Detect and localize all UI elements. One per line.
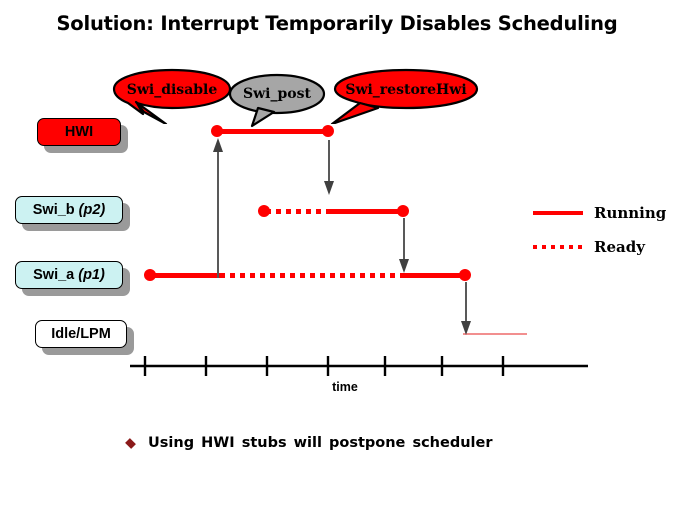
legend-item-running: Running: [533, 204, 666, 222]
track-hwi-segment-running: [217, 129, 328, 134]
row-label-idle: Idle/LPM: [35, 320, 127, 348]
legend-swatch-ready-icon: [533, 245, 583, 249]
slide-canvas: Solution: Interrupt Temporarily Disables…: [0, 0, 674, 506]
axis-label-time: time: [300, 380, 390, 394]
track-swi-a-marker-end: [459, 269, 471, 281]
row-label-swi-a-priority: (p1): [78, 267, 105, 283]
callout-swi-post[interactable]: Swi_post: [226, 72, 328, 128]
transition-arrow-swi-a-to-hwi: [207, 136, 229, 278]
track-swi-a-segment-ready: [220, 273, 403, 278]
bullet-point-text: Using HWI stubs will postpone scheduler: [148, 435, 492, 451]
legend-label-ready: Ready: [594, 238, 645, 256]
transition-arrow-hwi-to-swi-b: [318, 140, 340, 196]
time-axis: [130, 352, 600, 380]
legend-item-ready: Ready: [533, 238, 645, 256]
row-label-swi-b-text: Swi_b: [33, 202, 75, 218]
row-label-idle-text: Idle/LPM: [51, 326, 111, 342]
row-label-swi-a: Swi_a (p1): [15, 261, 123, 289]
transition-arrow-swi-a-to-idle: [455, 282, 477, 336]
track-swi-a-marker-start: [144, 269, 156, 281]
row-label-swi-b: Swi_b (p2): [15, 196, 123, 224]
row-label-swi-a-text: Swi_a: [33, 267, 74, 283]
track-swi-b-marker-start: [258, 205, 270, 217]
row-label-hwi-text: HWI: [65, 124, 93, 140]
transition-arrow-swi-b-to-swi-a: [393, 218, 415, 274]
legend-label-running: Running: [594, 204, 666, 222]
track-swi-b-segment-running: [328, 209, 403, 214]
row-label-hwi: HWI: [37, 118, 121, 146]
page-title: Solution: Interrupt Temporarily Disables…: [0, 12, 674, 35]
callout-swi-disable[interactable]: Swi_disable: [110, 68, 234, 124]
row-label-swi-b-priority: (p2): [79, 202, 106, 218]
bullet-point: Using HWI stubs will postpone scheduler: [126, 435, 492, 451]
legend-swatch-running-icon: [533, 211, 583, 215]
callout-swi-restorehwi[interactable]: Swi_restoreHwi: [330, 68, 482, 124]
diamond-bullet-icon: [125, 438, 136, 449]
track-swi-b-marker-end: [397, 205, 409, 217]
track-swi-b-segment-ready: [266, 209, 328, 214]
